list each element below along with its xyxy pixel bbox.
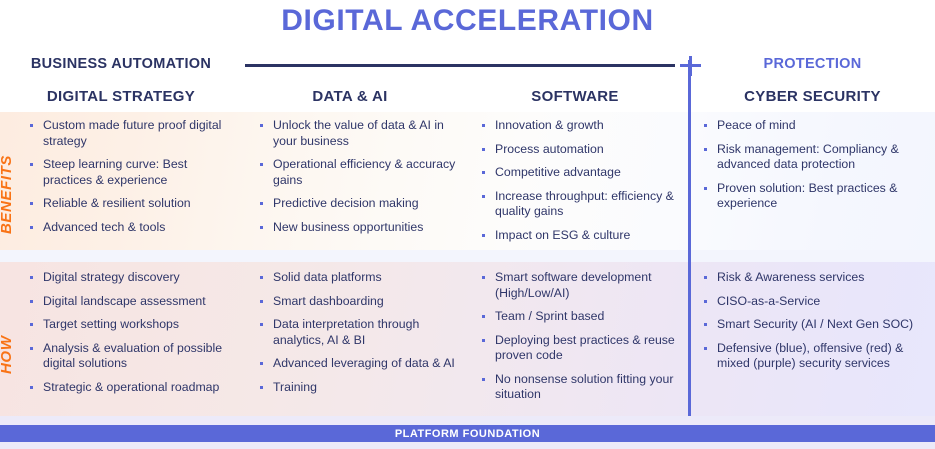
list-item: Analysis & evaluation of possible digita…: [28, 341, 233, 372]
list-item: Competitive advantage: [480, 165, 678, 181]
list-item: Strategic & operational roadmap: [28, 380, 233, 396]
column-heading-cyber-security: CYBER SECURITY: [700, 88, 925, 105]
bullet-list: Digital strategy discoveryDigital landsc…: [28, 270, 233, 395]
list-item: Solid data platforms: [258, 270, 458, 286]
bullet-list: Solid data platformsSmart dashboardingDa…: [258, 270, 458, 395]
list-item: New business opportunities: [258, 220, 458, 236]
list-item: Smart dashboarding: [258, 294, 458, 310]
list-item: Peace of mind: [702, 118, 924, 134]
bullet-list: Risk & Awareness servicesCISO-as-a-Servi…: [702, 270, 924, 372]
list-item: Smart software development (High/Low/AI): [480, 270, 678, 301]
platform-foundation-bar: PLATFORM FOUNDATION: [0, 425, 935, 442]
row-gap-strip: [0, 250, 935, 262]
list-item: Proven solution: Best practices & experi…: [702, 181, 924, 212]
header-band: BUSINESS AUTOMATION PROTECTION DIGITAL S…: [0, 48, 935, 110]
list-item: Predictive decision making: [258, 196, 458, 212]
list-item: Target setting workshops: [28, 317, 233, 333]
bullet-list: Unlock the value of data & AI in your bu…: [258, 118, 458, 235]
how-column-digital-strategy: Digital strategy discoveryDigital landsc…: [28, 270, 233, 403]
vertical-divider: [688, 60, 691, 416]
bullet-list: Peace of mindRisk management: Compliancy…: [702, 118, 924, 212]
list-item: Steep learning curve: Best practices & e…: [28, 157, 233, 188]
bullet-list: Innovation & growthProcess automationCom…: [480, 118, 678, 243]
list-item: Data interpretation through analytics, A…: [258, 317, 458, 348]
list-item: Risk management: Compliancy & advanced d…: [702, 142, 924, 173]
list-item: Smart Security (AI / Next Gen SOC): [702, 317, 924, 333]
benefits-column-cyber-security: Peace of mindRisk management: Compliancy…: [702, 118, 924, 220]
list-item: Advanced leveraging of data & AI: [258, 356, 458, 372]
list-item: Training: [258, 380, 458, 396]
list-item: Digital landscape assessment: [28, 294, 233, 310]
bottom-strip: [0, 416, 935, 425]
bullet-list: Smart software development (High/Low/AI)…: [480, 270, 678, 403]
benefits-column-software: Innovation & growthProcess automationCom…: [480, 118, 678, 251]
list-item: Reliable & resilient solution: [28, 196, 233, 212]
benefits-column-digital-strategy: Custom made future proof digital strateg…: [28, 118, 233, 243]
digital-acceleration-poster: DIGITAL ACCELERATION BUSINESS AUTOMATION…: [0, 0, 935, 449]
column-heading-software: SOFTWARE: [475, 88, 675, 105]
list-item: Process automation: [480, 142, 678, 158]
page-title: DIGITAL ACCELERATION: [0, 4, 935, 38]
list-item: Innovation & growth: [480, 118, 678, 134]
list-item: CISO-as-a-Service: [702, 294, 924, 310]
how-column-data-ai: Solid data platformsSmart dashboardingDa…: [258, 270, 458, 403]
benefits-column-data-ai: Unlock the value of data & AI in your bu…: [258, 118, 458, 243]
how-column-cyber-security: Risk & Awareness servicesCISO-as-a-Servi…: [702, 270, 924, 380]
header-rule: [245, 64, 675, 67]
list-item: Deploying best practices & reuse proven …: [480, 333, 678, 364]
column-heading-digital-strategy: DIGITAL STRATEGY: [16, 88, 226, 105]
side-label-how: HOW: [0, 330, 24, 380]
how-column-software: Smart software development (High/Low/AI)…: [480, 270, 678, 411]
list-item: Defensive (blue), offensive (red) & mixe…: [702, 341, 924, 372]
list-item: Custom made future proof digital strateg…: [28, 118, 233, 149]
group-heading-business-automation: BUSINESS AUTOMATION: [16, 56, 226, 72]
list-item: Team / Sprint based: [480, 309, 678, 325]
foundation-base-strip: [0, 442, 935, 449]
list-item: Risk & Awareness services: [702, 270, 924, 286]
side-label-benefits: BENEFITS: [0, 150, 24, 240]
list-item: Increase throughput: efficiency & qualit…: [480, 189, 678, 220]
platform-foundation-label: PLATFORM FOUNDATION: [395, 428, 540, 440]
list-item: Unlock the value of data & AI in your bu…: [258, 118, 458, 149]
list-item: No nonsense solution fitting your situat…: [480, 372, 678, 403]
column-heading-data-ai: DATA & AI: [245, 88, 455, 105]
list-item: Advanced tech & tools: [28, 220, 233, 236]
bullet-list: Custom made future proof digital strateg…: [28, 118, 233, 235]
list-item: Digital strategy discovery: [28, 270, 233, 286]
list-item: Operational efficiency & accuracy gains: [258, 157, 458, 188]
group-heading-protection: PROTECTION: [700, 56, 925, 72]
list-item: Impact on ESG & culture: [480, 228, 678, 244]
